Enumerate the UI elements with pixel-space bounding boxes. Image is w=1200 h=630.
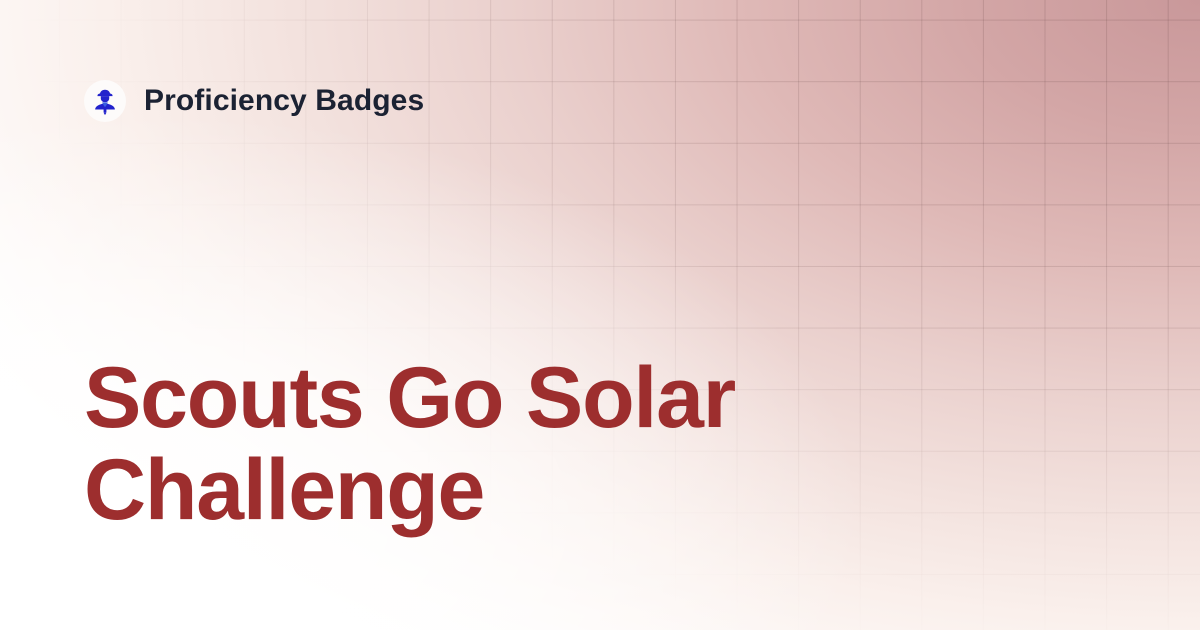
og-card: Proficiency Badges Scouts Go Solar Chall… [0, 0, 1200, 630]
brand-badge [84, 80, 126, 122]
brand-title: Proficiency Badges [144, 86, 424, 116]
page-title: Scouts Go Solar Challenge [84, 352, 844, 536]
card-content: Proficiency Badges Scouts Go Solar Chall… [0, 0, 1200, 630]
brand-row: Proficiency Badges [84, 80, 424, 122]
scout-figure-icon [90, 86, 120, 116]
